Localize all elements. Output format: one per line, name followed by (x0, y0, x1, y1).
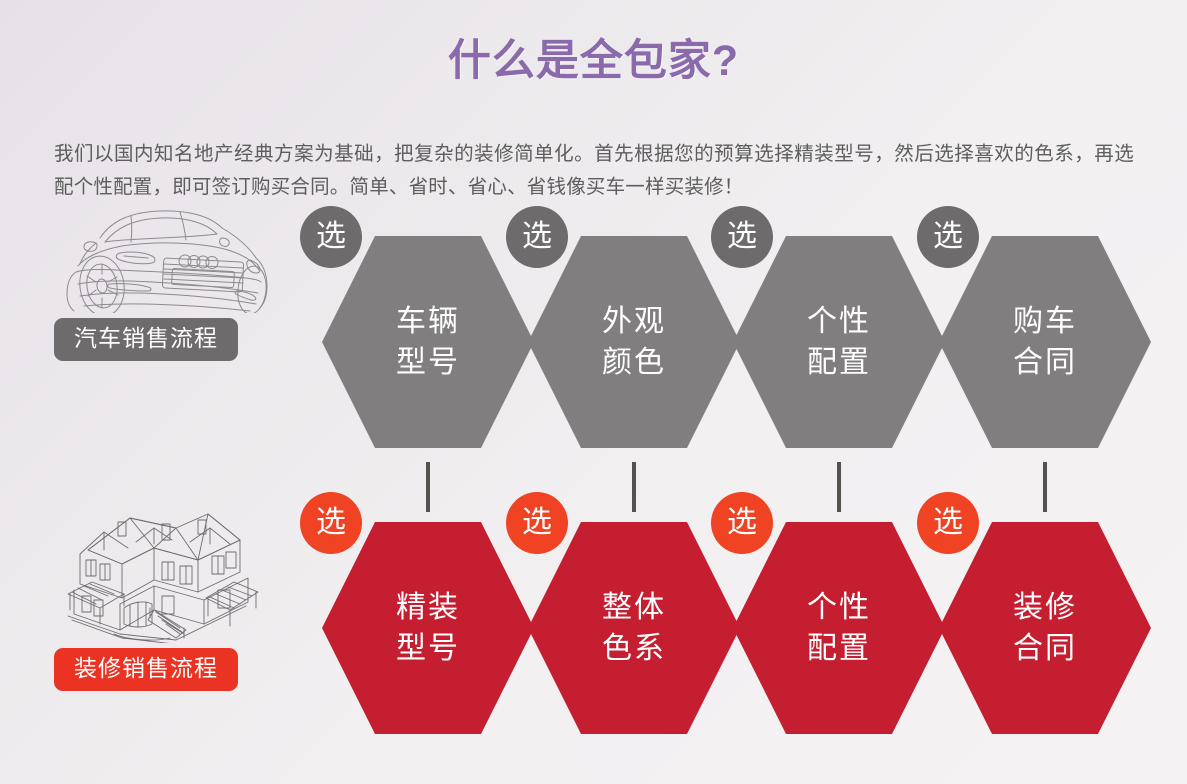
renovation-process-row: 精装 型号 选 整体 色系 选 个性 配置 选 装修 合同 选 (0, 522, 1187, 734)
hexagon-shape: 个性 配置 (733, 522, 945, 734)
infographic-page: 什么是全包家? 我们以国内知名地产经典方案为基础，把复杂的装修简单化。首先根据您… (0, 0, 1187, 784)
car-process-row: 车辆 型号 选 外观 颜色 选 个性 配置 选 购车 合同 选 (0, 236, 1187, 448)
step-line-2: 色系 (602, 628, 666, 669)
step-line-1: 购车 (1013, 301, 1077, 342)
step-line-1: 外观 (602, 301, 666, 342)
step-line-1: 个性 (807, 301, 871, 342)
process-step-renovation-4[interactable]: 装修 合同 选 (939, 522, 1151, 734)
connector-3 (837, 462, 841, 512)
hexagon-shape: 精装 型号 (322, 522, 534, 734)
step-badge: 选 (506, 206, 568, 268)
connector-2 (632, 462, 636, 512)
step-line-1: 精装 (396, 587, 460, 628)
hexagon-shape: 车辆 型号 (322, 236, 534, 448)
hexagon-shape: 购车 合同 (939, 236, 1151, 448)
step-badge: 选 (711, 492, 773, 554)
hexagon-shape: 整体 色系 (528, 522, 740, 734)
step-line-2: 合同 (1013, 342, 1077, 383)
step-badge: 选 (711, 206, 773, 268)
step-line-2: 合同 (1013, 628, 1077, 669)
step-line-1: 个性 (807, 587, 871, 628)
step-line-1: 装修 (1013, 587, 1077, 628)
page-title: 什么是全包家? (0, 26, 1187, 88)
intro-paragraph: 我们以国内知名地产经典方案为基础，把复杂的装修简单化。首先根据您的预算选择精装型… (54, 138, 1134, 204)
process-step-car-4[interactable]: 购车 合同 选 (939, 236, 1151, 448)
process-step-car-2[interactable]: 外观 颜色 选 (528, 236, 740, 448)
connector-4 (1043, 462, 1047, 512)
process-step-car-3[interactable]: 个性 配置 选 (733, 236, 945, 448)
connector-1 (426, 462, 430, 512)
step-badge: 选 (300, 206, 362, 268)
step-line-2: 型号 (396, 342, 460, 383)
hexagon-shape: 外观 颜色 (528, 236, 740, 448)
process-step-renovation-3[interactable]: 个性 配置 选 (733, 522, 945, 734)
process-step-car-1[interactable]: 车辆 型号 选 (322, 236, 534, 448)
step-line-1: 车辆 (396, 301, 460, 342)
step-line-2: 颜色 (602, 342, 666, 383)
step-badge: 选 (506, 492, 568, 554)
step-line-1: 整体 (602, 587, 666, 628)
process-step-renovation-1[interactable]: 精装 型号 选 (322, 522, 534, 734)
step-line-2: 配置 (807, 342, 871, 383)
process-step-renovation-2[interactable]: 整体 色系 选 (528, 522, 740, 734)
step-line-2: 配置 (807, 628, 871, 669)
step-badge: 选 (917, 206, 979, 268)
step-badge: 选 (300, 492, 362, 554)
hexagon-shape: 装修 合同 (939, 522, 1151, 734)
step-line-2: 型号 (396, 628, 460, 669)
step-badge: 选 (917, 492, 979, 554)
hexagon-shape: 个性 配置 (733, 236, 945, 448)
